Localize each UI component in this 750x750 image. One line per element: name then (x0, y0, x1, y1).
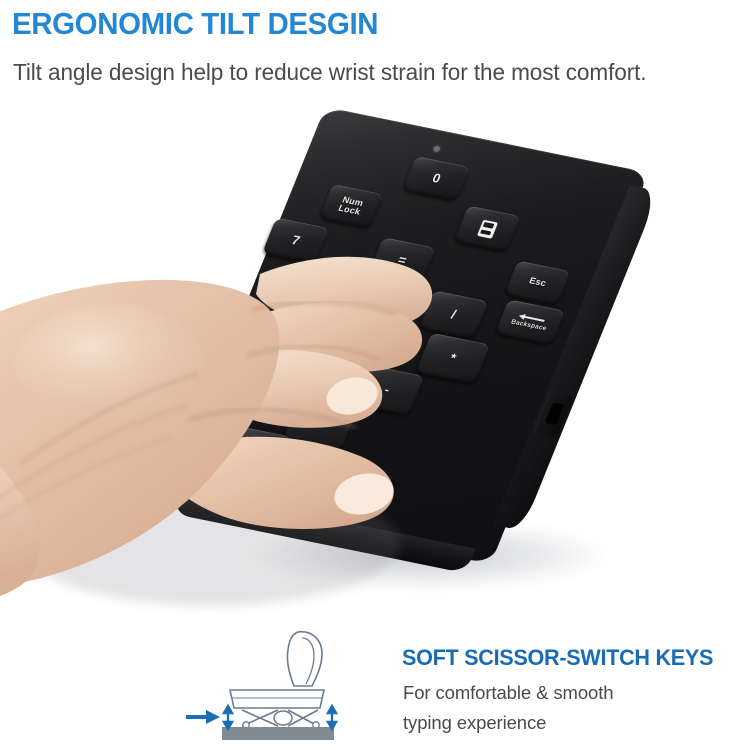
backspace-arrow-icon: Backspace (510, 312, 551, 333)
key-travel-arrow-right-icon (328, 706, 336, 729)
key-escape[interactable]: Esc (504, 260, 571, 305)
key-label: Esc (528, 277, 548, 289)
scissor-switch-diagram (186, 628, 391, 748)
knuckle-highlight (15, 304, 205, 424)
bottom-feature-body-line2: typing experience (403, 708, 733, 738)
bottom-feature-heading: SOFT SCISSOR-SWITCH KEYS (402, 645, 713, 671)
pointer-arrow-icon (186, 710, 220, 724)
status-led-icon (433, 146, 441, 153)
bottom-feature-body: For comfortable & smooth typing experien… (403, 678, 733, 738)
fingertip-outline-icon (287, 632, 322, 686)
base-plate-icon (222, 727, 334, 740)
key-zero-top[interactable]: 0 (402, 156, 471, 201)
top-feature-body: Tilt angle design help to reduce wrist s… (13, 53, 685, 91)
keycap-icon (230, 690, 324, 708)
key-backspace[interactable]: Backspace (495, 299, 566, 345)
product-feature-image: ERGONOMIC TILT DESGIN Tilt angle design … (0, 0, 750, 750)
key-label: 0 (430, 171, 442, 185)
top-feature-heading: ERGONOMIC TILT DESGIN (12, 6, 378, 42)
key-travel-arrow-left-icon (224, 706, 232, 729)
rubber-dome-icon (274, 711, 292, 725)
hand-photo (0, 214, 480, 634)
bottom-feature-body-line1: For comfortable & smooth (403, 678, 733, 708)
